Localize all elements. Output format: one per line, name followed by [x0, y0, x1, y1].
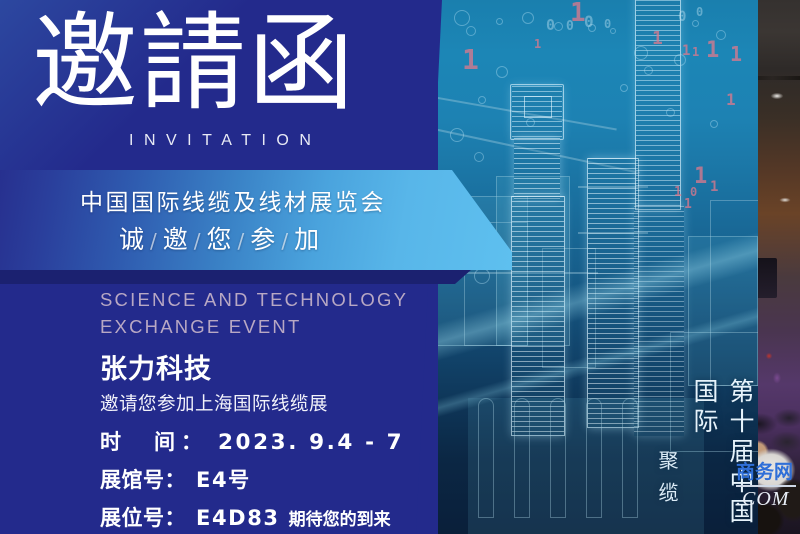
- vertical-edition-title: 第十届中国国际: [686, 378, 758, 534]
- detail-value-hall: E4号: [196, 464, 251, 494]
- company-name: 张力科技: [100, 347, 212, 386]
- detail-value-booth: E4D83: [196, 506, 280, 530]
- detail-row-booth: 展位号： E4D83 期待您的到来: [100, 502, 430, 532]
- invite-char-0: 诚: [117, 225, 146, 254]
- invite-char-2: 您: [205, 225, 234, 254]
- eyebrow-line-1: SCIENCE AND TECHNOLOGY: [100, 289, 408, 310]
- invite-statement: 邀请您参加上海国际线缆展: [100, 390, 328, 416]
- invite-sep-2: /: [234, 229, 249, 253]
- detail-row-date: 时 间： 2023. 9.4 - 7: [100, 426, 430, 456]
- banner-exhibition-name: 中国国际线缆及线材展览会: [80, 183, 386, 217]
- invitation-poster: 1 1 1 1 1 1 1 1 1 0 0 0 0 0 0 0 1 1 1 1: [0, 0, 800, 534]
- vertical-slogan: 聚缆: [653, 450, 682, 514]
- detail-booth-tagline: 期待您的到来: [289, 505, 391, 530]
- detail-row-hall: 展馆号： E4号: [100, 464, 430, 494]
- detail-label-date: 时 间：: [100, 426, 208, 456]
- invite-char-1: 邀: [161, 225, 190, 254]
- invite-sep-3: /: [277, 229, 292, 253]
- detail-label-hall: 展馆号：: [100, 464, 186, 494]
- detail-label-booth: 展位号：: [100, 502, 186, 532]
- invite-sep-0: /: [146, 229, 161, 253]
- invite-char-3: 参: [248, 225, 277, 254]
- page-title-en: INVITATION: [129, 132, 321, 150]
- event-details: 时 间： 2023. 9.4 - 7 展馆号： E4号 展位号： E4D83 期…: [100, 426, 430, 534]
- invite-char-4: 加: [292, 225, 321, 254]
- page-title: 邀請函: [32, 8, 432, 126]
- banner-invite-phrase: 诚/邀/您/参/加: [117, 220, 321, 256]
- eyebrow-line-2: EXCHANGE EVENT: [100, 313, 420, 340]
- invite-sep-1: /: [190, 229, 205, 253]
- detail-value-date: 2023. 9.4 - 7: [218, 430, 404, 455]
- eyebrow-text: SCIENCE AND TECHNOLOGY EXCHANGE EVENT: [100, 286, 420, 340]
